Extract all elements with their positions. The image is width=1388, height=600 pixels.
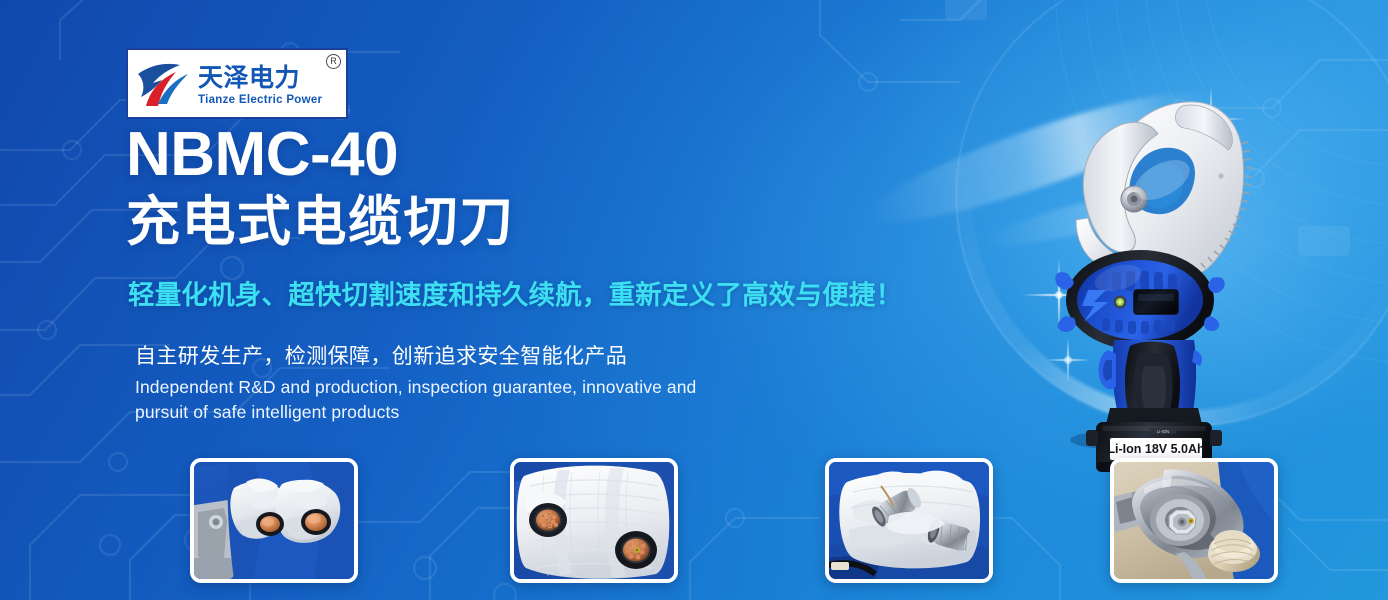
promo-banner: LI-ION Li-Ion 18V 5.0Ah 天泽 bbox=[0, 0, 1388, 600]
thumbnail-gallery bbox=[0, 0, 1388, 600]
thumb-cable-cross-section-closeup[interactable] bbox=[510, 458, 678, 583]
thumb-cutter-blade-mechanism[interactable] bbox=[1110, 458, 1278, 583]
thumb-cut-copper-cable-ends[interactable] bbox=[190, 458, 358, 583]
thumb-cut-steel-cable-ends[interactable] bbox=[825, 458, 993, 583]
